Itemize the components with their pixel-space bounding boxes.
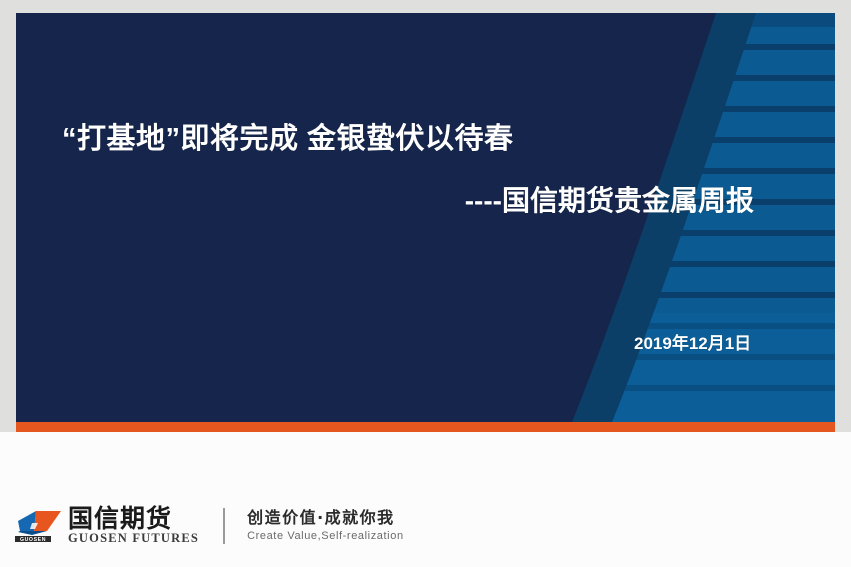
- footer-vertical-divider: [223, 508, 225, 544]
- slide-date: 2019年12月1日: [634, 329, 751, 354]
- logo-glyph: GUOSEN: [14, 509, 64, 543]
- svg-text:GUOSEN: GUOSEN: [20, 537, 46, 543]
- hero-panel: “打基地”即将完成 金银蛰伏以待春 ----国信期货贵金属周报 2019年12月…: [16, 13, 835, 422]
- brand-name-cn: 国信期货: [68, 506, 199, 532]
- brand-lockup: GUOSEN 国信期货 GUOSEN FUTURES: [14, 506, 199, 546]
- orange-divider-bar: [16, 422, 835, 432]
- guosen-diamond-logo-icon: GUOSEN: [14, 509, 64, 543]
- title-block: “打基地”即将完成 金银蛰伏以待春 ----国信期货贵金属周报: [32, 121, 772, 218]
- page-title: “打基地”即将完成 金银蛰伏以待春: [32, 121, 772, 157]
- brand-slogan: 创造价值·成就你我 Create Value,Self-realization: [247, 509, 404, 543]
- slide-root: “打基地”即将完成 金银蛰伏以待春 ----国信期货贵金属周报 2019年12月…: [0, 0, 851, 567]
- slogan-cn: 创造价值·成就你我: [247, 509, 404, 527]
- footer-branding: GUOSEN 国信期货 GUOSEN FUTURES 创造价值·成就你我 Cre…: [0, 495, 851, 557]
- slogan-en: Create Value,Self-realization: [247, 530, 404, 543]
- page-subtitle: ----国信期货贵金属周报: [32, 183, 772, 218]
- brand-wordmark: 国信期货 GUOSEN FUTURES: [68, 506, 199, 546]
- brand-name-en: GUOSEN FUTURES: [68, 532, 199, 546]
